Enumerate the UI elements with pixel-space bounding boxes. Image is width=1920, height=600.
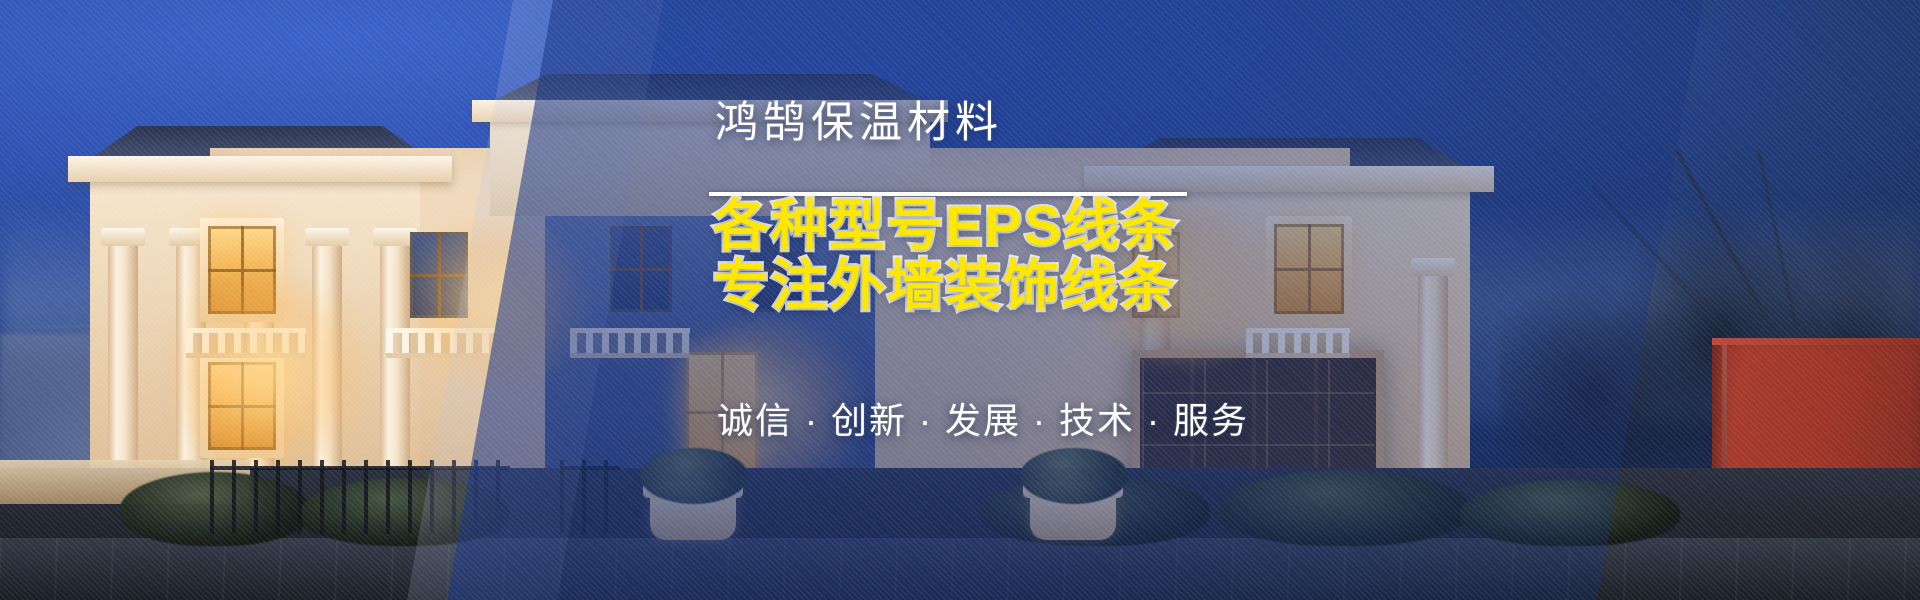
left-wing-cornice <box>68 156 452 182</box>
floodlight-glow <box>150 278 390 468</box>
slogan: 诚信 · 创新 · 发展 · 技术 · 服务 <box>717 398 1249 443</box>
brand-name: 鸿鹄保温材料 <box>715 98 1003 149</box>
headline-line-1: 各种型号EPS线条 <box>713 196 1179 256</box>
headline-line-2: 专注外墙装饰线条 <box>713 256 1179 316</box>
promo-banner: 鸿鹄保温材料 各种型号EPS线条 专注外墙装饰线条 诚信 · 创新 · 发展 ·… <box>0 0 1920 600</box>
banner-copy: 鸿鹄保温材料 各种型号EPS线条 专注外墙装饰线条 诚信 · 创新 · 发展 ·… <box>715 0 1615 600</box>
headline-group: 各种型号EPS线条 专注外墙装饰线条 <box>713 196 1179 316</box>
column <box>108 244 138 480</box>
